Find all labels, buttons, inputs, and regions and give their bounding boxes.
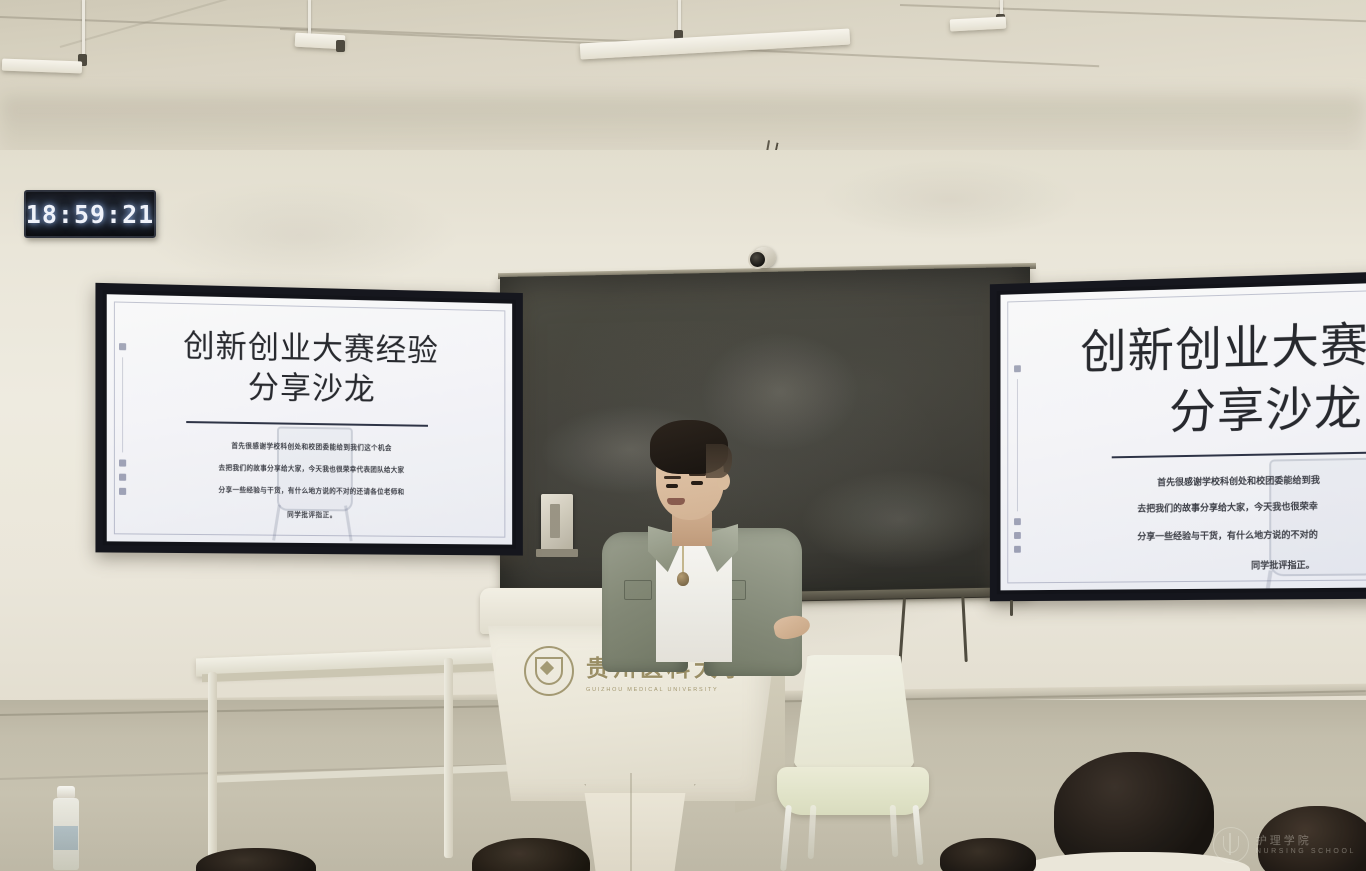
- undo-icon[interactable]: [1014, 546, 1021, 553]
- slide-body-line3-right: 分享一些经验与干货，有什么地方说的不对的: [1137, 527, 1366, 543]
- plastic-chair: [775, 655, 935, 871]
- presenter: [596, 420, 811, 650]
- hair-fade: [706, 444, 732, 478]
- wall-digital-clock: 18:59:21: [24, 190, 156, 238]
- university-emblem-icon: [524, 646, 574, 696]
- slide-body-line4-right: 同学批评指正。: [1251, 557, 1366, 571]
- wall-camera-icon: [748, 247, 776, 269]
- slide-title-line2-left: 分享沙龙: [107, 359, 512, 411]
- shape-icon[interactable]: [119, 474, 126, 481]
- university-name-en: GUIZHOU MEDICAL UNIVERSITY: [586, 687, 748, 693]
- water-bottle: [52, 786, 80, 870]
- slide-right: 创新创业大赛 分享沙龙 首先很感谢学校科创处和校团委能给到我 去把我们的故事分享…: [1000, 283, 1366, 590]
- audience-head-5: [940, 838, 1036, 871]
- slide-toolbar-right[interactable]: [1014, 365, 1021, 553]
- clock-time: 18:59:21: [26, 200, 154, 229]
- pendant-necklace: [682, 546, 684, 574]
- shape-icon[interactable]: [1014, 532, 1021, 539]
- hanging-cable-4: [1010, 600, 1013, 616]
- slide-left: 创新创业大赛经验 分享沙龙 首先很感谢学校科创处和校团委能给到我们这个机会 去把…: [107, 294, 512, 544]
- wall-speaker-device: [541, 494, 573, 551]
- eraser-icon[interactable]: [1014, 518, 1021, 525]
- mouth: [667, 498, 685, 505]
- display-screen-left[interactable]: 创新创业大赛经验 分享沙龙 首先很感谢学校科创处和校团委能给到我们这个机会 去把…: [95, 283, 522, 556]
- display-screen-right[interactable]: 创新创业大赛 分享沙龙 首先很感谢学校科创处和校团委能给到我 去把我们的故事分享…: [990, 272, 1366, 602]
- pen-icon[interactable]: [1014, 365, 1021, 372]
- wall-speaker-base: [536, 549, 578, 557]
- lecture-hall-scene: 18:59:21 创新创业大赛经验: [0, 0, 1366, 871]
- slide-title-line2-right: 分享沙龙: [1169, 368, 1366, 442]
